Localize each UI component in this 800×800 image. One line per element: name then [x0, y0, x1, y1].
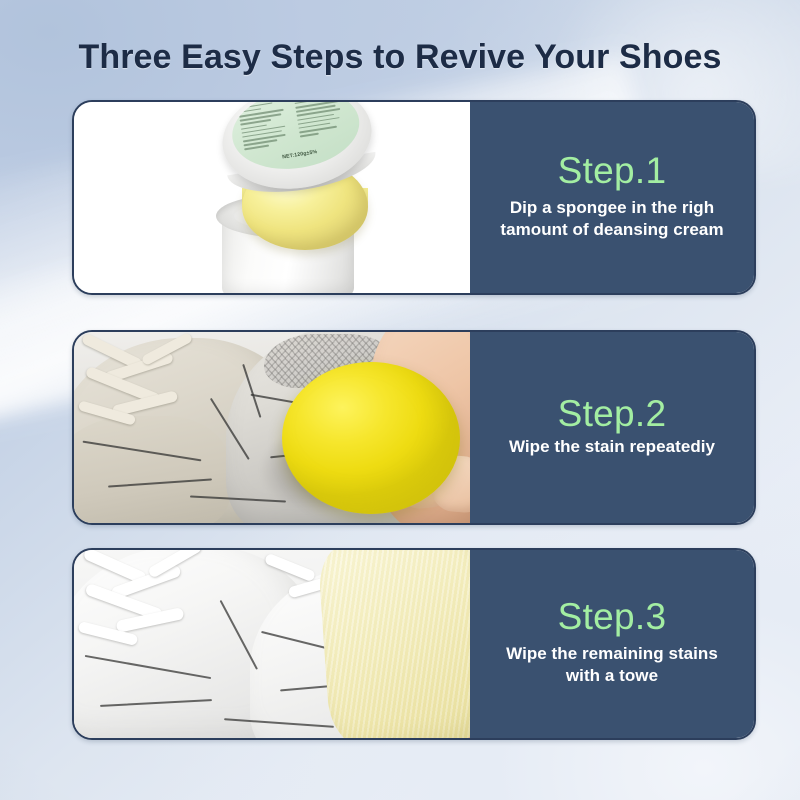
step-card-1: NET:120g±5% Step.1 Dip a spongee in the …: [72, 100, 756, 295]
step-1-description: Dip a spongee in the righ tamount of dea…: [500, 197, 723, 241]
step-card-3: Step.3 Wipe the remaining stains with a …: [72, 548, 756, 740]
step-card-2: Step.2 Wipe the stain repeatediy: [72, 330, 756, 525]
step-2-description: Wipe the stain repeatediy: [509, 436, 715, 458]
wiping-stain-with-sponge-photo: [74, 332, 470, 523]
step-2-label: Step.2: [558, 395, 667, 434]
step-3-label: Step.3: [558, 598, 667, 637]
sneaker-left-laces: [78, 342, 216, 428]
yellow-microfibre-towel: [317, 550, 470, 738]
cream-jar-with-sponge-photo: NET:120g±5%: [74, 102, 470, 293]
step-2-text-panel: Step.2 Wipe the stain repeatediy: [470, 332, 754, 523]
step-1-label: Step.1: [558, 152, 667, 191]
yellow-sponge: [282, 362, 460, 514]
wiping-with-towel-photo: [74, 550, 470, 738]
step-3-description: Wipe the remaining stains with a towe: [506, 643, 718, 687]
step-1-text-panel: Step.1 Dip a spongee in the righ tamount…: [470, 102, 754, 293]
jar-composition: NET:120g±5%: [194, 102, 394, 293]
step-3-text-panel: Step.3 Wipe the remaining stains with a …: [470, 550, 754, 738]
jar-label-text-column-right: [294, 102, 349, 140]
sneaker-left-toe: [74, 416, 230, 523]
jar-label-text-column-left: [238, 102, 293, 153]
jar-label: NET:120g±5%: [226, 102, 365, 178]
page-title: Three Easy Steps to Revive Your Shoes: [0, 38, 800, 77]
white-sneaker-left-laces: [80, 554, 230, 650]
